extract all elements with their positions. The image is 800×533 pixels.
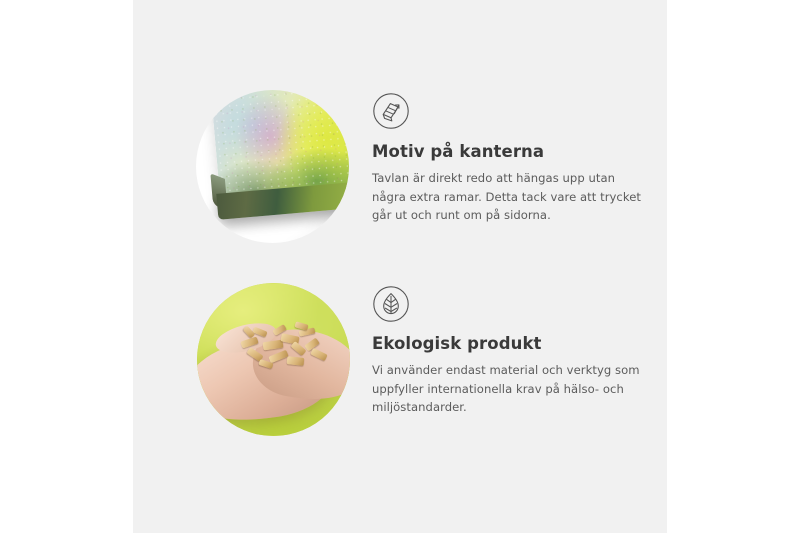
content-panel [133,0,667,533]
feature-description: Tavlan är direkt redo att hängas upp uta… [372,169,644,225]
canvas-wrapped-edge-icon [372,92,410,130]
wood-chips [239,323,331,379]
feature-block-ekologisk-produkt: Ekologisk produkt Vi använder endast mat… [197,283,644,436]
feature-description: Vi använder endast material och verktyg … [372,361,644,417]
feature-title: Motiv på kanterna [372,142,644,162]
product-feature-banner: Motiv på kanterna Tavlan är direkt redo … [0,0,800,533]
canvas-corner-photo [196,90,349,243]
feature-title: Ekologisk produkt [372,334,644,354]
hands-with-wood-chips-photo [197,283,350,436]
leaf-icon [372,285,410,323]
feature-block-motiv-pa-kanterna: Motiv på kanterna Tavlan är direkt redo … [196,90,644,243]
feature-text-column: Motiv på kanterna Tavlan är direkt redo … [372,90,644,225]
feature-text-column: Ekologisk produkt Vi använder endast mat… [372,283,644,417]
